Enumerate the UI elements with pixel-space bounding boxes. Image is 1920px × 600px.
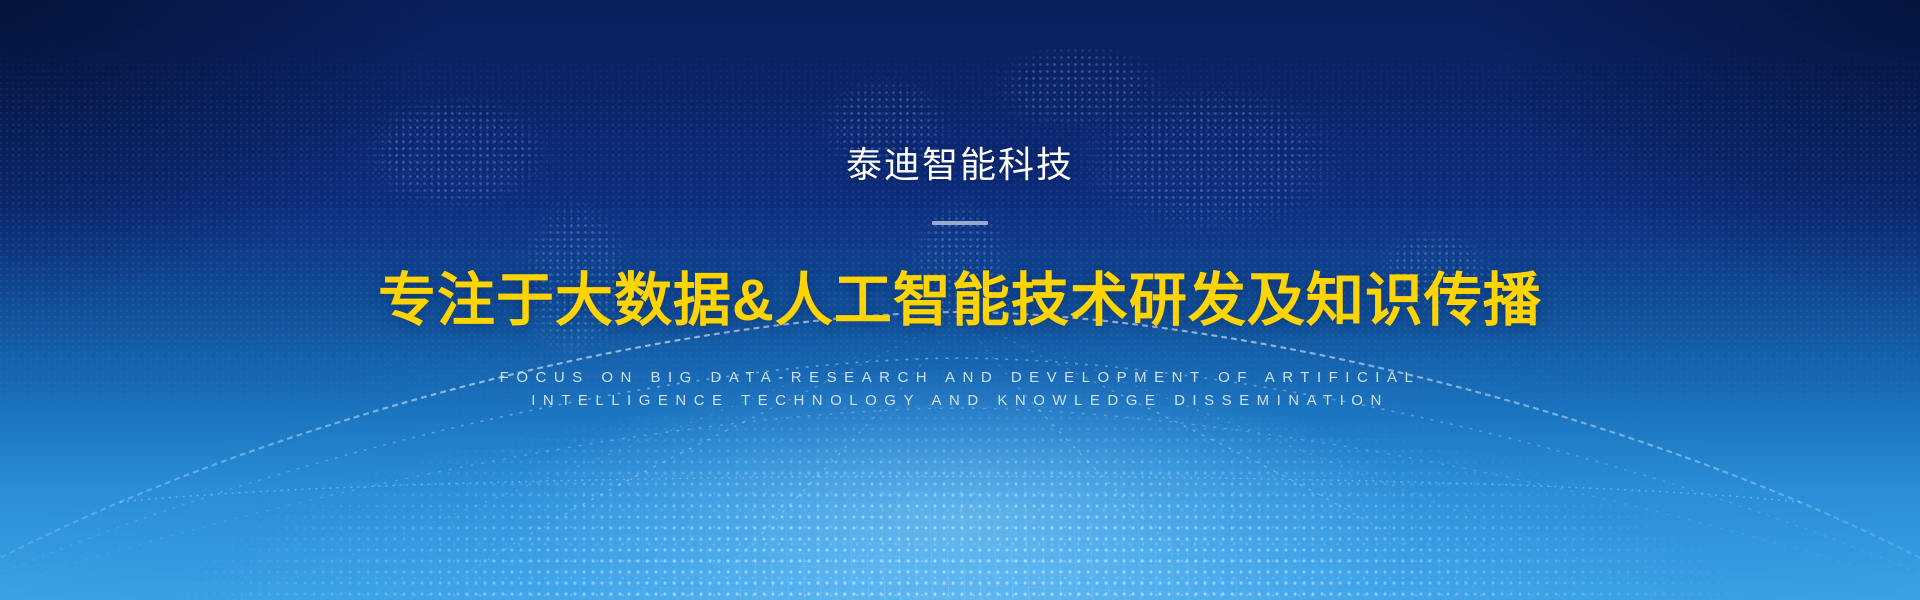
- banner-content: 泰迪智能科技 专注于大数据&人工智能技术研发及知识传播 FOCUS ON BIG…: [0, 0, 1920, 600]
- hero-banner: 泰迪智能科技 专注于大数据&人工智能技术研发及知识传播 FOCUS ON BIG…: [0, 0, 1920, 600]
- brand-title: 泰迪智能科技: [0, 139, 1920, 191]
- headline-text: 专注于大数据&人工智能技术研发及知识传播: [0, 262, 1920, 340]
- subtitle-line-1: FOCUS ON BIG DATA-RESEARCH AND DEVELOPME…: [0, 367, 1920, 389]
- subtitle-line-2: INTELLIGENCE TECHNOLOGY AND KNOWLEDGE DI…: [0, 390, 1920, 412]
- title-divider: [932, 221, 988, 225]
